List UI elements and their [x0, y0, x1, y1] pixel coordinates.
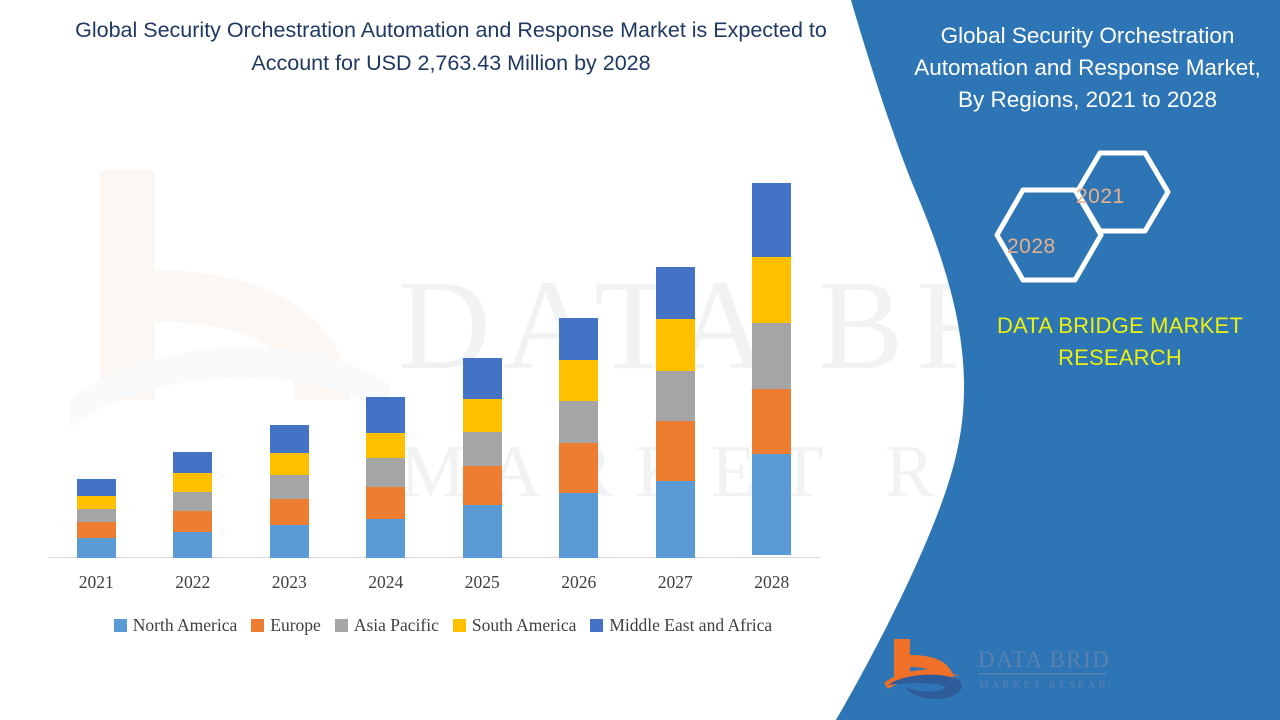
- bar-segment-2023-north-america: [270, 525, 309, 558]
- bar-segment-2024-south-america: [366, 433, 405, 458]
- bar-segment-2024-middle-east-and-africa: [366, 397, 405, 433]
- bar-segment-2027-europe: [656, 421, 695, 481]
- bar-segment-2025-north-america: [463, 505, 502, 558]
- bar-2021: [77, 479, 116, 558]
- bar-segment-2028-europe: [752, 389, 791, 454]
- panel-brand: DATA BRIDGE MARKET RESEARCH: [960, 310, 1280, 374]
- plot-area: [48, 170, 820, 558]
- data-bridge-logo-icon: DATA BRIDGE MARKET RESEARCH: [880, 635, 1110, 705]
- bar-segment-2026-europe: [559, 443, 598, 493]
- bar-segment-2022-asia-pacific: [173, 492, 212, 511]
- x-axis-label-2028: 2028: [724, 572, 820, 593]
- legend-item-north-america[interactable]: North America: [114, 615, 237, 636]
- bar-segment-2027-south-america: [656, 319, 695, 371]
- bar-segment-2028-asia-pacific: [752, 323, 791, 389]
- bar-segment-2026-middle-east-and-africa: [559, 318, 598, 360]
- bar-segment-2022-south-america: [173, 473, 212, 492]
- x-axis-label-2024: 2024: [338, 572, 434, 593]
- bar-2023: [270, 425, 309, 558]
- legend-label: Middle East and Africa: [609, 615, 772, 636]
- bar-segment-2023-south-america: [270, 453, 309, 475]
- legend-swatch-icon: [453, 619, 466, 632]
- bar-segment-2027-north-america: [656, 481, 695, 558]
- bar-segment-2025-asia-pacific: [463, 432, 502, 466]
- bar-segment-2026-north-america: [559, 493, 598, 558]
- bar-segment-2023-middle-east-and-africa: [270, 425, 309, 453]
- legend-swatch-icon: [251, 619, 264, 632]
- bar-segment-2025-middle-east-and-africa: [463, 358, 502, 399]
- bar-segment-2028-south-america: [752, 257, 791, 323]
- panel-brand-line-2: RESEARCH: [960, 342, 1280, 374]
- x-axis-labels: 20212022202320242025202620272028: [48, 572, 820, 600]
- legend-item-south-america[interactable]: South America: [453, 615, 577, 636]
- bar-segment-2023-europe: [270, 499, 309, 525]
- bar-segment-2021-europe: [77, 522, 116, 538]
- bar-segment-2028-north-america: [752, 454, 791, 555]
- x-axis-label-2022: 2022: [145, 572, 241, 593]
- bar-2026: [559, 318, 598, 558]
- bar-2027: [656, 267, 695, 558]
- panel-title: Global Security Orchestration Automation…: [905, 20, 1270, 116]
- bar-2024: [366, 397, 405, 558]
- bar-2022: [173, 452, 212, 558]
- hexagon-pair: 2021 2028: [975, 145, 1195, 285]
- legend-swatch-icon: [114, 619, 127, 632]
- legend-label: South America: [472, 615, 577, 636]
- bar-segment-2024-north-america: [366, 519, 405, 558]
- hexagon-label-2028: 2028: [1007, 235, 1056, 259]
- logo-title: DATA BRIDGE: [978, 647, 1110, 672]
- bar-segment-2025-south-america: [463, 399, 502, 432]
- legend-item-europe[interactable]: Europe: [251, 615, 321, 636]
- bar-segment-2023-asia-pacific: [270, 475, 309, 499]
- x-axis-label-2023: 2023: [241, 572, 337, 593]
- infographic-canvas: DATA BRIDGE MARKET RESEARCH Global Secur…: [0, 0, 1280, 720]
- bar-segment-2027-asia-pacific: [656, 371, 695, 421]
- hexagon-label-2021: 2021: [1076, 185, 1125, 209]
- chart-legend: North AmericaEuropeAsia PacificSouth Ame…: [48, 615, 838, 636]
- bar-segment-2021-north-america: [77, 538, 116, 558]
- legend-label: Europe: [270, 615, 321, 636]
- bar-segment-2028-middle-east-and-africa: [752, 183, 791, 257]
- legend-item-asia-pacific[interactable]: Asia Pacific: [335, 615, 439, 636]
- bar-segment-2021-middle-east-and-africa: [77, 479, 116, 496]
- bar-segment-2024-asia-pacific: [366, 458, 405, 487]
- x-axis-label-2025: 2025: [434, 572, 530, 593]
- bar-segment-2022-north-america: [173, 532, 212, 558]
- legend-label: Asia Pacific: [354, 615, 439, 636]
- legend-label: North America: [133, 615, 237, 636]
- x-axis-label-2026: 2026: [531, 572, 627, 593]
- bar-segment-2024-europe: [366, 487, 405, 519]
- legend-swatch-icon: [335, 619, 348, 632]
- hexagon-outlines-icon: [975, 145, 1195, 285]
- panel-brand-line-1: DATA BRIDGE MARKET: [960, 310, 1280, 342]
- company-logo: DATA BRIDGE MARKET RESEARCH: [880, 635, 1110, 705]
- bar-segment-2021-asia-pacific: [77, 509, 116, 522]
- bar-segment-2021-south-america: [77, 496, 116, 509]
- bar-2025: [463, 358, 502, 558]
- logo-subtitle: MARKET RESEARCH: [979, 680, 1110, 691]
- bar-segment-2026-south-america: [559, 360, 598, 401]
- legend-item-middle-east-and-africa[interactable]: Middle East and Africa: [590, 615, 772, 636]
- bar-2028: [752, 183, 791, 558]
- bar-segment-2022-middle-east-and-africa: [173, 452, 212, 473]
- x-axis-label-2021: 2021: [48, 572, 144, 593]
- bar-segment-2026-asia-pacific: [559, 401, 598, 443]
- bar-segment-2025-europe: [463, 466, 502, 505]
- legend-swatch-icon: [590, 619, 603, 632]
- x-axis-label-2027: 2027: [627, 572, 723, 593]
- stacked-bar-chart: 20212022202320242025202620272028: [0, 0, 860, 660]
- bar-segment-2027-middle-east-and-africa: [656, 267, 695, 319]
- bar-segment-2022-europe: [173, 511, 212, 532]
